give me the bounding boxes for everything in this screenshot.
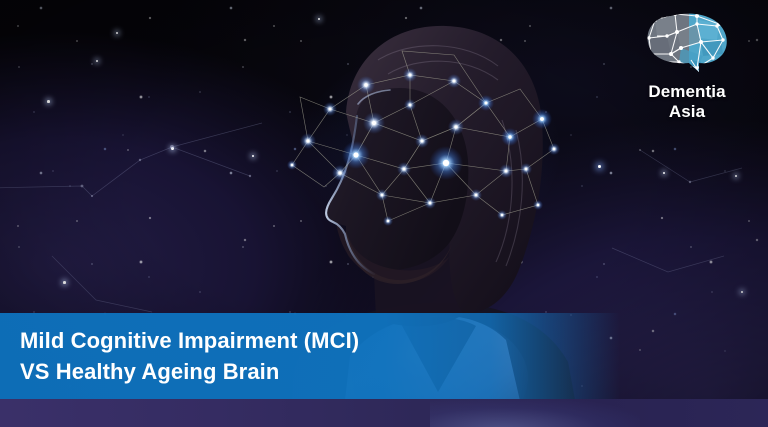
- page-title-line2: VS Healthy Ageing Brain: [20, 356, 620, 387]
- logo-text-line2: Asia: [628, 102, 746, 122]
- hero-banner: Dementia Asia Mild Cognitive Impairment …: [0, 0, 768, 427]
- page-title-line1: Mild Cognitive Impairment (MCI): [20, 325, 620, 356]
- brain-polygon-icon: [641, 10, 733, 76]
- title-banner: Mild Cognitive Impairment (MCI) VS Healt…: [0, 313, 620, 399]
- dementia-asia-logo[interactable]: Dementia Asia: [628, 10, 746, 121]
- bottom-strip: [0, 399, 768, 427]
- logo-text-line1: Dementia: [628, 82, 746, 102]
